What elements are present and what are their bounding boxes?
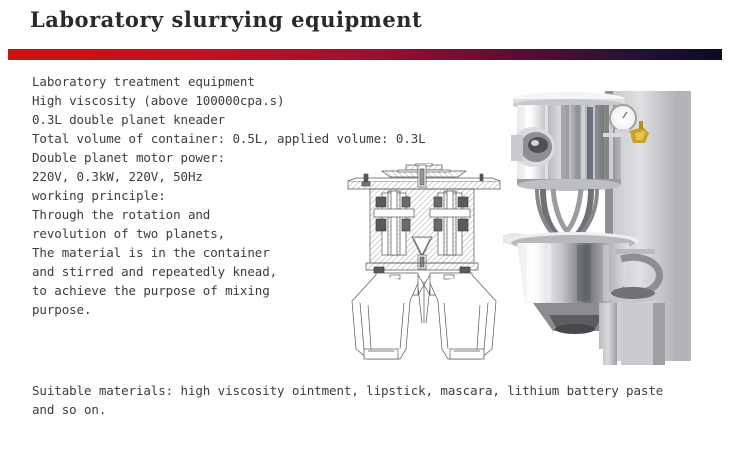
suitable-materials-note: Suitable materials: high viscosity ointm… (32, 381, 712, 419)
double-planetary-mixer-cross-section-icon (338, 163, 510, 368)
divider-gradient-bar (8, 45, 722, 56)
note-line: Suitable materials: high viscosity ointm… (32, 381, 712, 400)
note-line: and so on. (32, 400, 712, 419)
spec-line: Laboratory treatment equipment (32, 72, 452, 91)
divider-gradient-svg (8, 49, 722, 60)
page-title: Laboratory slurrying equipment (30, 7, 422, 32)
spec-line: High viscosity (above 100000cpa.s) (32, 91, 452, 110)
spec-line: 0.3L double planet kneader (32, 110, 452, 129)
equipment-photo-figure (503, 63, 715, 368)
stainless-steel-planetary-mixer-photo-icon (503, 63, 715, 368)
spec-line: Total volume of container: 0.5L, applied… (32, 129, 452, 148)
technical-drawing-figure (338, 163, 510, 368)
